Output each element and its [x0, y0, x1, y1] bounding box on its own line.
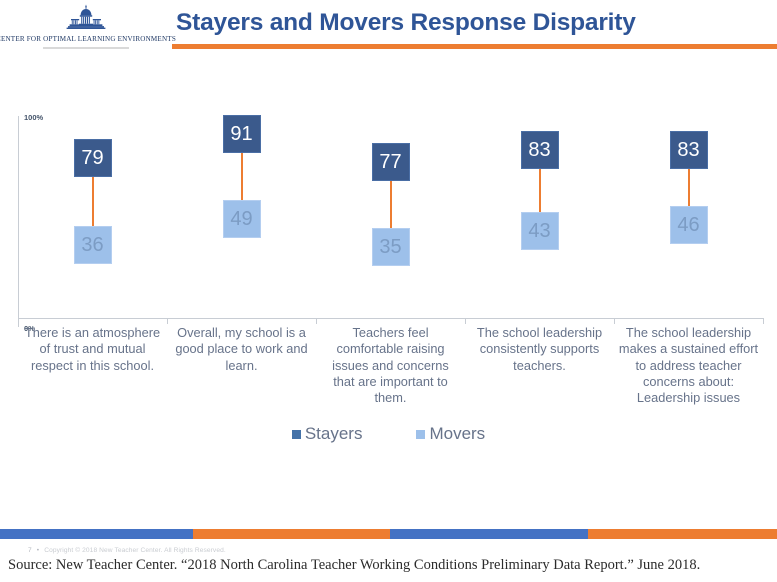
- movers-data-marker[interactable]: 36: [74, 226, 112, 264]
- legend-item-movers[interactable]: Movers: [416, 424, 485, 444]
- x-axis-tick: [316, 318, 317, 324]
- source-citation: Source: New Teacher Center. “2018 North …: [8, 557, 700, 574]
- category-labels: There is an atmosphere of trust and mutu…: [18, 325, 763, 425]
- category-label: Teachers feel comfortable raising issues…: [316, 325, 465, 425]
- legend-label: Movers: [429, 424, 485, 444]
- category-label: The school leadership consistently suppo…: [465, 325, 614, 425]
- category-label: There is an atmosphere of trust and mutu…: [18, 325, 167, 425]
- footer-bar-segment: [193, 529, 390, 539]
- x-axis-tick: [763, 318, 764, 324]
- data-point-group: 8343: [465, 108, 614, 319]
- stayers-data-marker[interactable]: 79: [74, 139, 112, 177]
- copyright-text: Copyright © 2018 New Teacher Center. All…: [44, 547, 226, 554]
- movers-data-marker[interactable]: 35: [372, 228, 410, 266]
- capitol-building-icon: [63, 4, 109, 34]
- legend-swatch-icon: [292, 430, 301, 439]
- chart-legend: Stayers Movers: [0, 421, 777, 447]
- legend-swatch-icon: [416, 430, 425, 439]
- data-point-group: 7735: [316, 108, 465, 319]
- data-point-group: 8346: [614, 108, 763, 319]
- data-point-group: 9149: [167, 108, 316, 319]
- category-label: The school leadership makes a sustained …: [614, 325, 763, 425]
- title-underline-rule: [172, 44, 777, 49]
- stayers-data-marker[interactable]: 83: [521, 131, 559, 169]
- bullet-separator: •: [37, 547, 39, 554]
- page-number: 7: [28, 547, 32, 554]
- legend-label: Stayers: [305, 424, 363, 444]
- category-label: Overall, my school is a good place to wo…: [167, 325, 316, 425]
- footer-bar-segment: [0, 529, 193, 539]
- stayers-data-marker[interactable]: 91: [223, 115, 261, 153]
- legend-item-stayers[interactable]: Stayers: [292, 424, 363, 444]
- organization-name: CENTER FOR OPTIMAL LEARNING ENVIRONMENTS: [0, 35, 176, 43]
- movers-data-marker[interactable]: 46: [670, 206, 708, 244]
- movers-data-marker[interactable]: 49: [223, 200, 261, 238]
- footer-bar-segment: [390, 529, 588, 539]
- copyright-line: 7•Copyright © 2018 New Teacher Center. A…: [28, 547, 226, 554]
- x-axis-tick: [167, 318, 168, 324]
- footer-bar-segment: [588, 529, 777, 539]
- slide-header: CENTER FOR OPTIMAL LEARNING ENVIRONMENTS…: [0, 0, 777, 62]
- x-axis-tick: [614, 318, 615, 324]
- stayers-data-marker[interactable]: 77: [372, 143, 410, 181]
- page-title: Stayers and Movers Response Disparity: [176, 8, 772, 38]
- logo-divider: [43, 47, 129, 49]
- stayers-data-marker[interactable]: 83: [670, 131, 708, 169]
- organization-logo: CENTER FOR OPTIMAL LEARNING ENVIRONMENTS: [3, 4, 169, 56]
- x-axis-tick: [465, 318, 466, 324]
- data-point-group: 7936: [18, 108, 167, 319]
- footer-color-bar: [0, 529, 777, 539]
- movers-data-marker[interactable]: 43: [521, 212, 559, 250]
